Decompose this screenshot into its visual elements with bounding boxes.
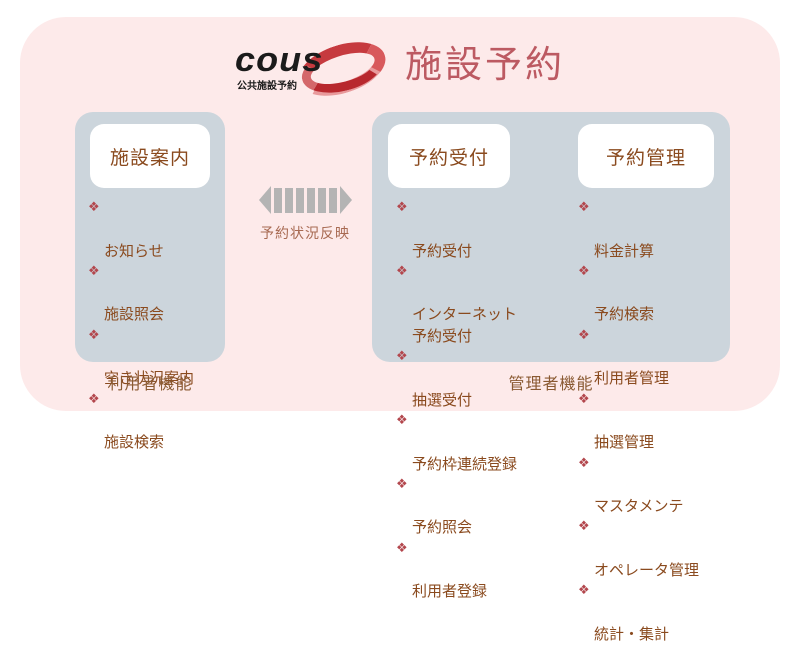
- booking-management-feature-list: ❖ 料金計算 ❖ 予約検索 ❖ 利用者管理 ❖ 抽選管理 ❖ マスタメンテ ❖ …: [578, 198, 728, 645]
- list-item-label: 予約照会: [412, 518, 472, 536]
- list-item-label: 利用者登録: [412, 582, 487, 600]
- diamond-bullet-icon: ❖: [396, 262, 408, 282]
- page-title: 施設予約: [405, 46, 565, 87]
- list-item[interactable]: ❖ 利用者登録: [396, 539, 556, 603]
- user-function-caption: 利用者機能: [75, 370, 225, 394]
- diamond-bullet-icon: ❖: [578, 581, 590, 601]
- list-item[interactable]: ❖ 予約受付: [396, 198, 556, 262]
- list-item[interactable]: ❖ オペレータ管理: [578, 517, 728, 581]
- list-item-label: インターネット 予約受付: [412, 305, 517, 344]
- list-item[interactable]: ❖ 予約検索: [578, 262, 728, 326]
- diagram-canvas: cous 公共施設予約 施設予約 施設案内 ❖ お知らせ ❖ 施設照会 ❖ 空き…: [0, 0, 799, 428]
- card-title-booking-management: 予約管理: [606, 143, 686, 170]
- arrow-bar: [285, 188, 293, 213]
- list-item[interactable]: ❖ 施設照会: [88, 262, 218, 326]
- diamond-bullet-icon: ❖: [396, 411, 408, 431]
- list-item[interactable]: ❖ 統計・集計: [578, 581, 728, 645]
- diamond-bullet-icon: ❖: [88, 198, 100, 218]
- card-facility-guide[interactable]: 施設案内: [90, 124, 210, 188]
- list-item-label: 予約検索: [594, 305, 654, 323]
- diamond-bullet-icon: ❖: [396, 347, 408, 367]
- list-item[interactable]: ❖ 抽選管理: [578, 390, 728, 454]
- arrow-bar: [274, 188, 282, 213]
- list-item[interactable]: ❖ 施設検索: [88, 390, 218, 454]
- list-item-label: オペレータ管理: [594, 561, 699, 579]
- list-item[interactable]: ❖ お知らせ: [88, 198, 218, 262]
- diamond-bullet-icon: ❖: [578, 454, 590, 474]
- arrow-head-left-icon: [259, 186, 271, 214]
- arrow-bar: [296, 188, 304, 213]
- sync-flow-indicator: 予約状況反映: [240, 186, 370, 243]
- logo-wordmark: cous: [235, 41, 323, 80]
- arrow-bar: [307, 188, 315, 213]
- booking-reception-feature-list: ❖ 予約受付 ❖ インターネット 予約受付 ❖ 抽選受付 ❖ 予約枠連続登録 ❖…: [396, 198, 556, 603]
- list-item-label: 統計・集計: [594, 625, 669, 643]
- diamond-bullet-icon: ❖: [578, 326, 590, 346]
- header: cous 公共施設予約 施設予約: [20, 30, 780, 102]
- list-item-label: マスタメンテ: [594, 497, 684, 515]
- diamond-bullet-icon: ❖: [578, 198, 590, 218]
- list-item[interactable]: ❖ マスタメンテ: [578, 454, 728, 518]
- diamond-bullet-icon: ❖: [88, 262, 100, 282]
- facility-guide-feature-list: ❖ お知らせ ❖ 施設照会 ❖ 空き状況案内 ❖ 施設検索: [88, 198, 218, 454]
- list-item-label: 予約枠連続登録: [412, 455, 517, 473]
- admin-function-caption: 管理者機能: [372, 370, 730, 394]
- list-item[interactable]: ❖ インターネット 予約受付: [396, 262, 556, 347]
- diamond-bullet-icon: ❖: [578, 262, 590, 282]
- list-item-label: 予約受付: [412, 242, 472, 260]
- card-title-booking-reception: 予約受付: [409, 143, 489, 170]
- card-booking-reception[interactable]: 予約受付: [388, 124, 510, 188]
- diamond-bullet-icon: ❖: [396, 198, 408, 218]
- diamond-bullet-icon: ❖: [88, 326, 100, 346]
- diamond-bullet-icon: ❖: [396, 475, 408, 495]
- arrow-head-right-icon: [340, 186, 352, 214]
- list-item-label: 抽選管理: [594, 433, 654, 451]
- list-item[interactable]: ❖ 料金計算: [578, 198, 728, 262]
- sync-flow-label: 予約状況反映: [240, 223, 370, 243]
- arrow-bar: [318, 188, 326, 213]
- logo-subtitle: 公共施設予約: [237, 77, 297, 92]
- list-item-label: お知らせ: [104, 242, 164, 260]
- card-title-facility-guide: 施設案内: [110, 143, 190, 170]
- double-arrow-icon: [240, 186, 370, 214]
- card-booking-management[interactable]: 予約管理: [578, 124, 714, 188]
- arrow-bar: [329, 188, 337, 213]
- cous-logo: cous 公共施設予約: [235, 35, 387, 97]
- diamond-bullet-icon: ❖: [396, 539, 408, 559]
- list-item[interactable]: ❖ 予約照会: [396, 475, 556, 539]
- list-item[interactable]: ❖ 予約枠連続登録: [396, 411, 556, 475]
- list-item-label: 料金計算: [594, 242, 654, 260]
- list-item-label: 施設検索: [104, 433, 164, 451]
- list-item-label: 施設照会: [104, 305, 164, 323]
- diamond-bullet-icon: ❖: [578, 517, 590, 537]
